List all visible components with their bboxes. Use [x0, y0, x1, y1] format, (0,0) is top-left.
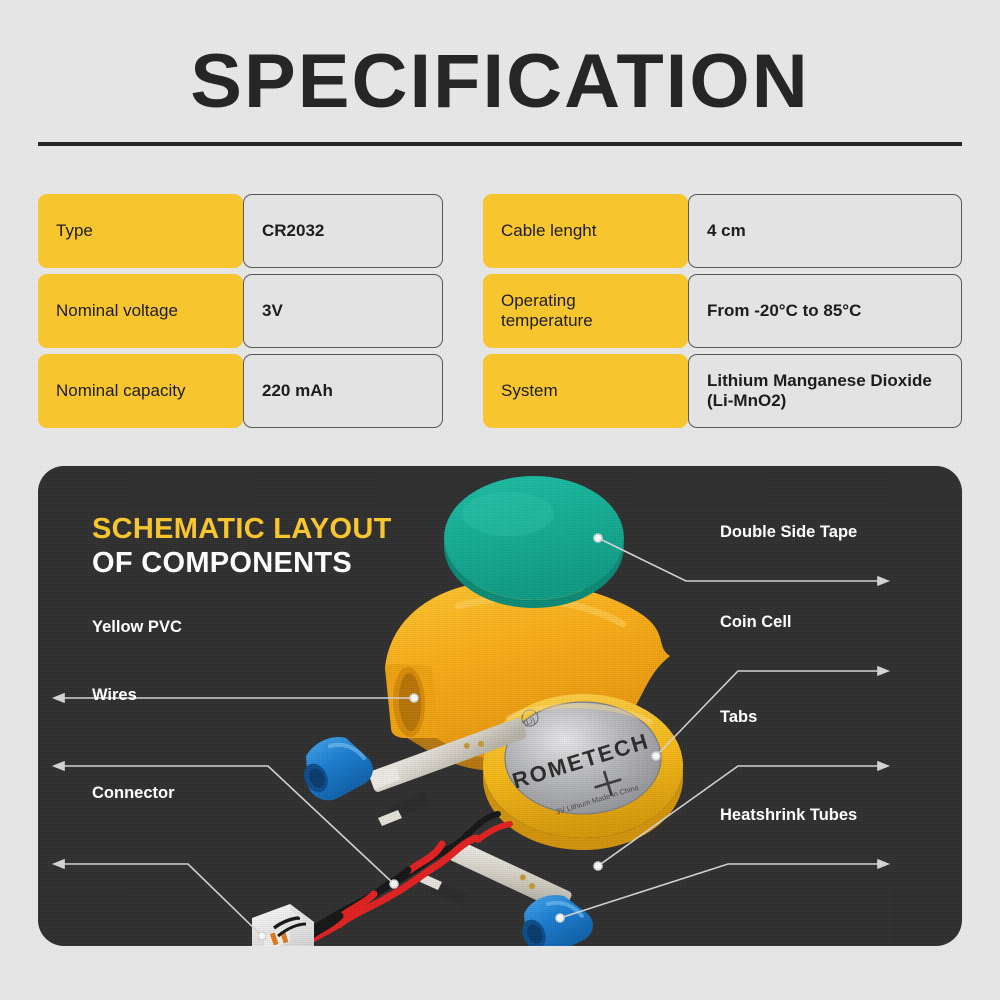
schematic-heading-line2: OF COMPONENTS — [92, 546, 392, 580]
spec-value-cable-lenght: 4 cm — [688, 194, 962, 268]
spec-label-system: System — [483, 354, 688, 428]
callout-tabs: Tabs — [720, 708, 757, 727]
title-divider — [38, 142, 962, 146]
schematic-panel: ROMETECH 3V Lithium Made in China (Li) — [38, 466, 962, 946]
column-gap — [443, 354, 483, 428]
spec-value-type: CR2032 — [243, 194, 443, 268]
column-gap — [443, 274, 483, 348]
heatshrink-tube-lower — [518, 895, 593, 946]
coin-cell-battery: ROMETECH 3V Lithium Made in China (Li) — [483, 694, 683, 850]
schematic-heading-line1: SCHEMATIC LAYOUT — [92, 512, 392, 546]
spec-label-cable-lenght: Cable lenght — [483, 194, 688, 268]
callout-connector: Connector — [92, 784, 175, 803]
tab-upper-wire-end — [378, 792, 430, 826]
twisted-wire-pair — [288, 814, 510, 946]
spec-label-type: Type — [38, 194, 243, 268]
callout-heatshrink-tubes: Heatshrink Tubes — [720, 806, 857, 825]
spec-value-nominal-voltage: 3V — [243, 274, 443, 348]
page-title: SPECIFICATION — [0, 44, 1000, 120]
spec-label-nominal-voltage: Nominal voltage — [38, 274, 243, 348]
callout-double-side-tape: Double Side Tape — [720, 523, 857, 542]
spec-value-system: Lithium Manganese Dioxide (Li-MnO2) — [688, 354, 962, 428]
heatshrink-tube-upper — [300, 737, 373, 800]
column-gap — [443, 194, 483, 268]
schematic-heading: SCHEMATIC LAYOUT OF COMPONENTS — [92, 512, 392, 580]
callout-wires: Wires — [92, 686, 137, 705]
spec-value-nominal-capacity: 220 mAh — [243, 354, 443, 428]
spec-label-nominal-capacity: Nominal capacity — [38, 354, 243, 428]
callout-coin-cell: Coin Cell — [720, 613, 792, 632]
callout-yellow-pvc: Yellow PVC — [92, 618, 182, 637]
spec-label-operating-temperature: Operating temperature — [483, 274, 688, 348]
specification-table: Type CR2032 Cable lenght 4 cm Nominal vo… — [38, 194, 962, 428]
header: SPECIFICATION — [0, 44, 1000, 120]
jst-connector — [252, 904, 314, 946]
tab-lower-wire-end — [420, 874, 468, 906]
double-side-tape-disc — [444, 476, 624, 608]
spec-value-operating-temperature: From -20°C to 85°C — [688, 274, 962, 348]
